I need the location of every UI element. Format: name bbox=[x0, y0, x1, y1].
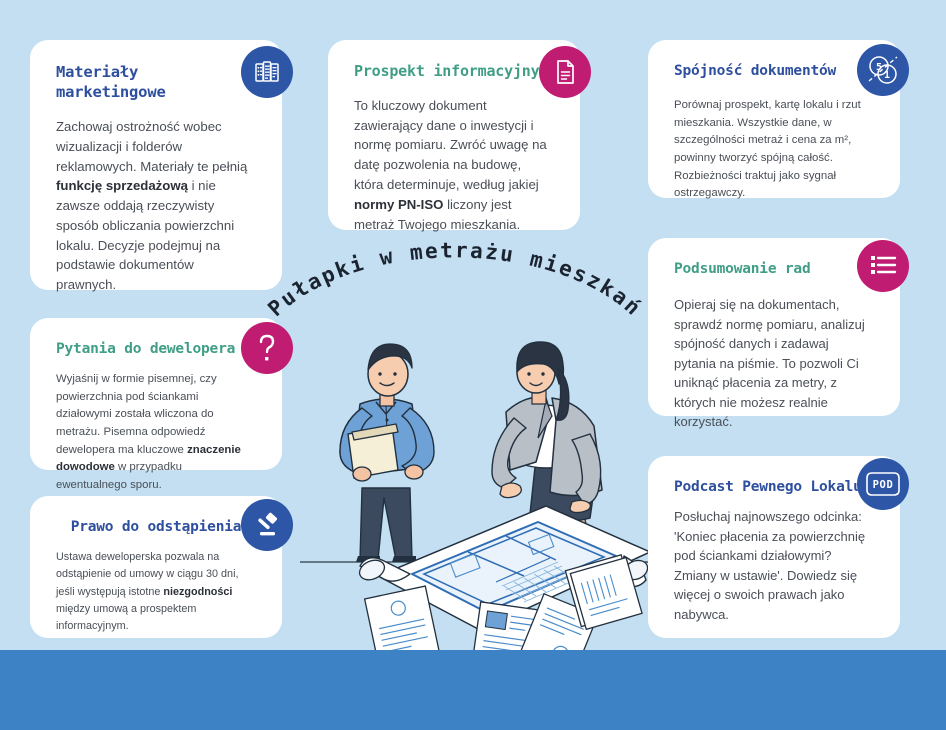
card-body: Ustawa deweloperska pozwala na odstąpien… bbox=[56, 549, 256, 635]
card-body-bold: normy PN-ISO bbox=[354, 197, 443, 212]
card-title: Spójność dokumentów bbox=[674, 62, 874, 81]
card-body-pre: To kluczowy dokument zawierający dane o … bbox=[354, 98, 547, 192]
compare-icon-label-left: 5 bbox=[876, 62, 882, 73]
checklist-icon bbox=[857, 240, 909, 292]
card-body-bold: funkcję sprzedażową bbox=[56, 178, 188, 193]
infographic-canvas: Pułapki w metrażu mieszkań bbox=[0, 0, 946, 730]
card-title: Pytania do dewelopera bbox=[56, 340, 256, 359]
page-title-text: Pułapki w metrażu mieszkań bbox=[263, 238, 646, 321]
page-title: Pułapki w metrażu mieszkań bbox=[255, 222, 655, 342]
brochure-stack-icon bbox=[241, 46, 293, 98]
question-mark-icon bbox=[241, 322, 293, 374]
gavel-icon bbox=[241, 499, 293, 551]
compare-circles-icon: 5 1 bbox=[857, 44, 909, 96]
card-title: Podcast Pewnego Lokalu bbox=[674, 478, 874, 497]
illustration-two-people-reviewing-blueprints bbox=[300, 338, 650, 658]
card-body: Wyjaśnij w formie pisemnej, czy powierzc… bbox=[56, 371, 256, 495]
card-body: Zachowaj ostrożność wobec wizualizacji i… bbox=[56, 117, 256, 295]
card-body: Opieraj się na dokumentach, sprawdź norm… bbox=[674, 295, 874, 432]
card-title: Podsumowanie rad bbox=[674, 260, 874, 279]
card-body: Porównaj prospekt, kartę lokalu i rzut m… bbox=[674, 97, 874, 203]
podcast-icon-label: POD bbox=[873, 479, 894, 491]
card-body-bold: niezgodności bbox=[163, 586, 232, 598]
card-body-post: i nie zawsze oddają rzeczywisty sposób o… bbox=[56, 178, 234, 292]
card-body-pre: Zachowaj ostrożność wobec wizualizacji i… bbox=[56, 119, 247, 174]
card-title: Materiały marketingowe bbox=[56, 62, 256, 103]
card-body: To kluczowy dokument zawierający dane o … bbox=[354, 96, 554, 235]
podcast-badge-icon: POD bbox=[857, 458, 909, 510]
document-icon bbox=[539, 46, 591, 98]
card-body-post: między umową a prospektem informacyjnym. bbox=[56, 603, 196, 632]
card-title: Prawo do odstąpienia bbox=[56, 518, 256, 537]
footer-band bbox=[0, 650, 946, 730]
card-title: Prospekt informacyjny bbox=[354, 62, 554, 82]
card-body: Posłuchaj najnowszego odcinka: 'Koniec p… bbox=[674, 507, 874, 624]
compare-icon-label-right: 1 bbox=[884, 70, 890, 81]
